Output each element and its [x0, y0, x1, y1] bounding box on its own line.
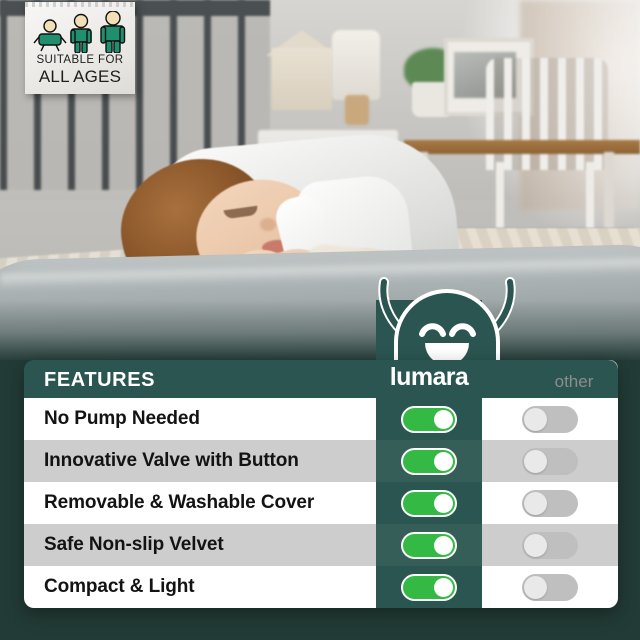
- badge-text: SUITABLE FOR ALL AGES: [25, 54, 135, 86]
- house-decor: [272, 48, 332, 110]
- desk-leg: [604, 152, 614, 232]
- table-lamp: [332, 30, 380, 100]
- toggle-off-icon[interactable]: [522, 490, 578, 517]
- promo-graphic: SUITABLE FOR ALL AGES lumara FEATURES: [0, 0, 640, 640]
- toggle-knob: [434, 536, 453, 555]
- badge-perforation: [25, 2, 135, 7]
- suitable-for-all-ages-badge: SUITABLE FOR ALL AGES: [25, 2, 135, 94]
- brand-cell: [376, 440, 482, 482]
- feature-label: Innovative Valve with Button: [24, 450, 299, 472]
- lamp-base: [345, 95, 369, 125]
- toggle-on-icon[interactable]: [401, 448, 457, 475]
- other-cell: [482, 440, 618, 482]
- badge-line-1: SUITABLE FOR: [25, 54, 135, 67]
- toggle-off-icon[interactable]: [522, 574, 578, 601]
- toggle-on-icon[interactable]: [401, 574, 457, 601]
- table-header-row: FEATURES other: [24, 360, 618, 398]
- toggle-knob: [434, 494, 453, 513]
- brand-cell: [376, 566, 482, 608]
- toggle-on-icon[interactable]: [401, 406, 457, 433]
- toggle-off-icon[interactable]: [522, 448, 578, 475]
- toggle-knob: [524, 492, 547, 515]
- chair-leg: [586, 162, 594, 234]
- other-cell: [482, 398, 618, 440]
- feature-label: Removable & Washable Cover: [24, 492, 314, 514]
- brand-column: [376, 398, 482, 608]
- brand-cell: [376, 398, 482, 440]
- other-cell: [482, 566, 618, 608]
- feature-label: No Pump Needed: [24, 408, 200, 430]
- toggle-on-icon[interactable]: [401, 490, 457, 517]
- brand-cell: [376, 524, 482, 566]
- chair-leg: [496, 162, 504, 234]
- toggle-knob: [434, 452, 453, 471]
- toggle-knob: [524, 450, 547, 473]
- toggle-knob: [524, 576, 547, 599]
- other-column: [482, 398, 618, 608]
- child-nose: [260, 218, 276, 231]
- toggle-knob: [524, 534, 547, 557]
- toggle-knob: [524, 408, 547, 431]
- toggle-knob: [434, 410, 453, 429]
- features-column-header: FEATURES: [44, 369, 155, 392]
- other-cell: [482, 482, 618, 524]
- table-body: No Pump Needed Innovative Valve with But…: [24, 398, 618, 608]
- feature-label: Safe Non-slip Velvet: [24, 534, 224, 556]
- badge-line-2: ALL AGES: [25, 67, 135, 86]
- toggle-off-icon[interactable]: [522, 532, 578, 559]
- other-column-header: other: [529, 372, 618, 392]
- brand-wordmark: lumara: [376, 363, 482, 392]
- feature-label: Compact & Light: [24, 576, 195, 598]
- toggle-on-icon[interactable]: [401, 532, 457, 559]
- other-cell: [482, 524, 618, 566]
- photo-fade-overlay: [0, 300, 640, 360]
- brand-cell: [376, 482, 482, 524]
- toggle-knob: [434, 578, 453, 597]
- comparison-table: FEATURES other No Pump Needed Innovative…: [24, 360, 618, 608]
- age-figures-icon: [25, 11, 135, 53]
- toggle-off-icon[interactable]: [522, 406, 578, 433]
